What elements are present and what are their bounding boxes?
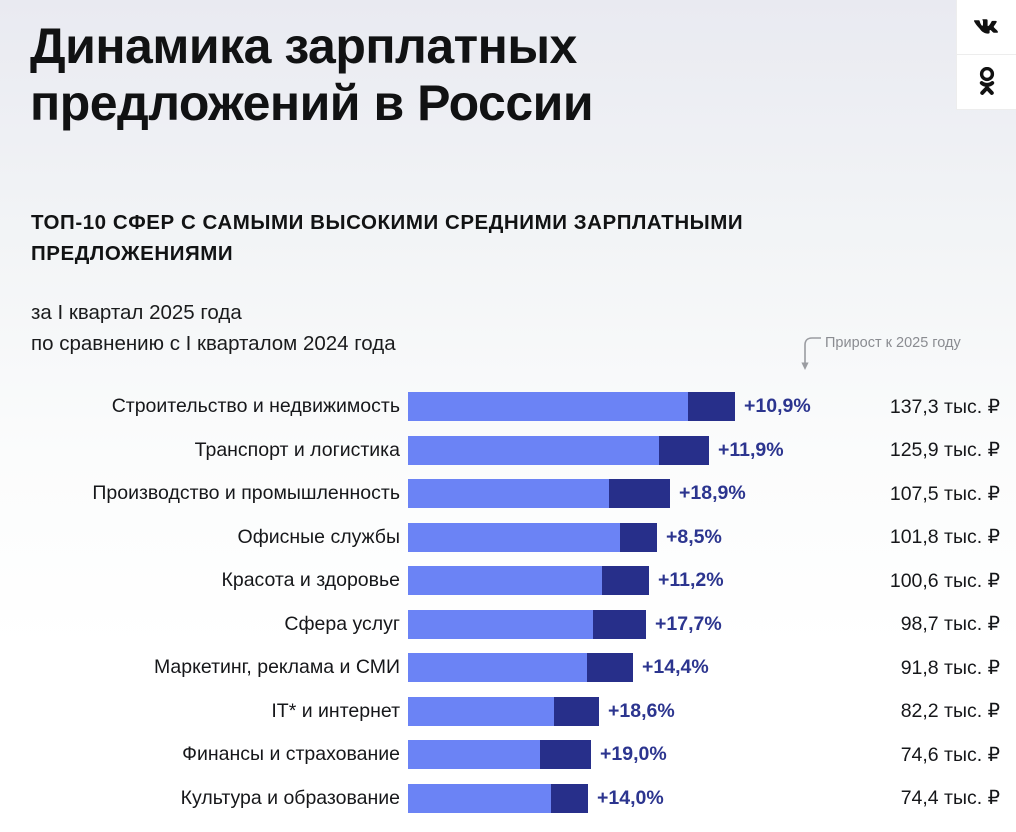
bar-segment-base <box>408 392 688 421</box>
table-row: Финансы и страхование +19,0% 74,6 тыс. ₽ <box>0 733 1016 777</box>
row-label: Сфера услуг <box>0 613 408 636</box>
bar-segment-base <box>408 740 540 769</box>
bar-segment-growth <box>593 610 646 639</box>
growth-percent: +18,9% <box>679 482 746 505</box>
growth-percent: +17,7% <box>655 613 722 636</box>
ok-icon <box>976 67 998 97</box>
row-bar-area: +19,0% <box>408 740 828 769</box>
row-label: Производство и промышленность <box>0 482 408 505</box>
growth-percent: +11,9% <box>718 439 784 462</box>
table-row: Производство и промышленность +18,9% 107… <box>0 472 1016 516</box>
row-bar-area: +18,6% <box>408 697 828 726</box>
salary-amount: 74,6 тыс. ₽ <box>828 743 1016 767</box>
row-bar-area: +10,9% <box>408 392 828 421</box>
row-bar-area: +11,2% <box>408 566 828 595</box>
stacked-bar <box>408 479 670 508</box>
salary-amount: 74,4 тыс. ₽ <box>828 786 1016 810</box>
row-label: Маркетинг, реклама и СМИ <box>0 656 408 679</box>
row-label: Строительство и недвижимость <box>0 395 408 418</box>
salary-amount: 137,3 тыс. ₽ <box>828 395 1016 419</box>
stacked-bar <box>408 653 633 682</box>
bar-segment-base <box>408 610 593 639</box>
table-row: Транспорт и логистика +11,9% 125,9 тыс. … <box>0 429 1016 473</box>
bar-segment-base <box>408 523 620 552</box>
row-bar-area: +14,0% <box>408 784 828 813</box>
salary-bar-chart: Строительство и недвижимость +10,9% 137,… <box>0 385 1016 820</box>
growth-percent: +10,9% <box>744 395 811 418</box>
stacked-bar <box>408 740 591 769</box>
row-label: Культура и образование <box>0 787 408 810</box>
row-bar-area: +11,9% <box>408 436 828 465</box>
vk-icon <box>972 17 1002 37</box>
stacked-bar <box>408 784 588 813</box>
ok-share-button[interactable] <box>956 55 1016 110</box>
growth-percent: +11,2% <box>658 569 724 592</box>
row-label: Финансы и страхование <box>0 743 408 766</box>
bar-segment-growth <box>609 479 670 508</box>
salary-amount: 82,2 тыс. ₽ <box>828 699 1016 723</box>
row-bar-area: +17,7% <box>408 610 828 639</box>
stacked-bar <box>408 697 599 726</box>
bar-segment-base <box>408 653 587 682</box>
row-label: Транспорт и логистика <box>0 439 408 462</box>
curved-down-arrow-icon <box>800 334 822 374</box>
bar-segment-base <box>408 784 551 813</box>
bar-segment-growth <box>688 392 735 421</box>
growth-percent: +8,5% <box>666 526 722 549</box>
salary-amount: 98,7 тыс. ₽ <box>828 612 1016 636</box>
growth-percent: +14,0% <box>597 787 664 810</box>
growth-percent: +14,4% <box>642 656 709 679</box>
bar-segment-growth <box>620 523 657 552</box>
infographic-page: Динамика зарплатных предложений в России… <box>0 0 1016 832</box>
page-subtitle: ТОП-10 СФЕР С САМЫМИ ВЫСОКИМИ СРЕДНИМИ З… <box>31 207 771 269</box>
bar-segment-base <box>408 566 602 595</box>
table-row: Строительство и недвижимость +10,9% 137,… <box>0 385 1016 429</box>
growth-annotation-label: Прирост к 2025 году <box>825 335 961 352</box>
growth-percent: +19,0% <box>600 743 667 766</box>
vk-share-button[interactable] <box>956 0 1016 55</box>
salary-amount: 107,5 тыс. ₽ <box>828 482 1016 506</box>
table-row: Офисные службы +8,5% 101,8 тыс. ₽ <box>0 516 1016 560</box>
salary-amount: 91,8 тыс. ₽ <box>828 656 1016 680</box>
stacked-bar <box>408 523 657 552</box>
table-row: Сфера услуг +17,7% 98,7 тыс. ₽ <box>0 603 1016 647</box>
salary-amount: 100,6 тыс. ₽ <box>828 569 1016 593</box>
period-line-2: по сравнению с I кварталом 2024 года <box>31 328 651 359</box>
social-share-stack <box>956 0 1016 110</box>
table-row: IT* и интернет +18,6% 82,2 тыс. ₽ <box>0 690 1016 734</box>
bar-segment-growth <box>659 436 709 465</box>
stacked-bar <box>408 436 709 465</box>
bar-segment-base <box>408 436 659 465</box>
stacked-bar <box>408 392 735 421</box>
stacked-bar <box>408 566 649 595</box>
period-line-1: за I квартал 2025 года <box>31 297 651 328</box>
row-label: IT* и интернет <box>0 700 408 723</box>
bar-segment-base <box>408 479 609 508</box>
row-label: Офисные службы <box>0 526 408 549</box>
page-title: Динамика зарплатных предложений в России <box>30 18 750 132</box>
bar-segment-base <box>408 697 554 726</box>
period-note: за I квартал 2025 года по сравнению с I … <box>31 297 651 359</box>
salary-amount: 101,8 тыс. ₽ <box>828 525 1016 549</box>
bar-segment-growth <box>551 784 588 813</box>
table-row: Культура и образование +14,0% 74,4 тыс. … <box>0 777 1016 821</box>
row-bar-area: +14,4% <box>408 653 828 682</box>
bar-segment-growth <box>587 653 633 682</box>
table-row: Маркетинг, реклама и СМИ +14,4% 91,8 тыс… <box>0 646 1016 690</box>
bar-segment-growth <box>554 697 599 726</box>
stacked-bar <box>408 610 646 639</box>
bar-segment-growth <box>602 566 649 595</box>
table-row: Красота и здоровье +11,2% 100,6 тыс. ₽ <box>0 559 1016 603</box>
growth-annotation: Прирост к 2025 году <box>800 334 961 374</box>
growth-percent: +18,6% <box>608 700 675 723</box>
bar-segment-growth <box>540 740 591 769</box>
salary-amount: 125,9 тыс. ₽ <box>828 438 1016 462</box>
row-bar-area: +18,9% <box>408 479 828 508</box>
row-label: Красота и здоровье <box>0 569 408 592</box>
row-bar-area: +8,5% <box>408 523 828 552</box>
